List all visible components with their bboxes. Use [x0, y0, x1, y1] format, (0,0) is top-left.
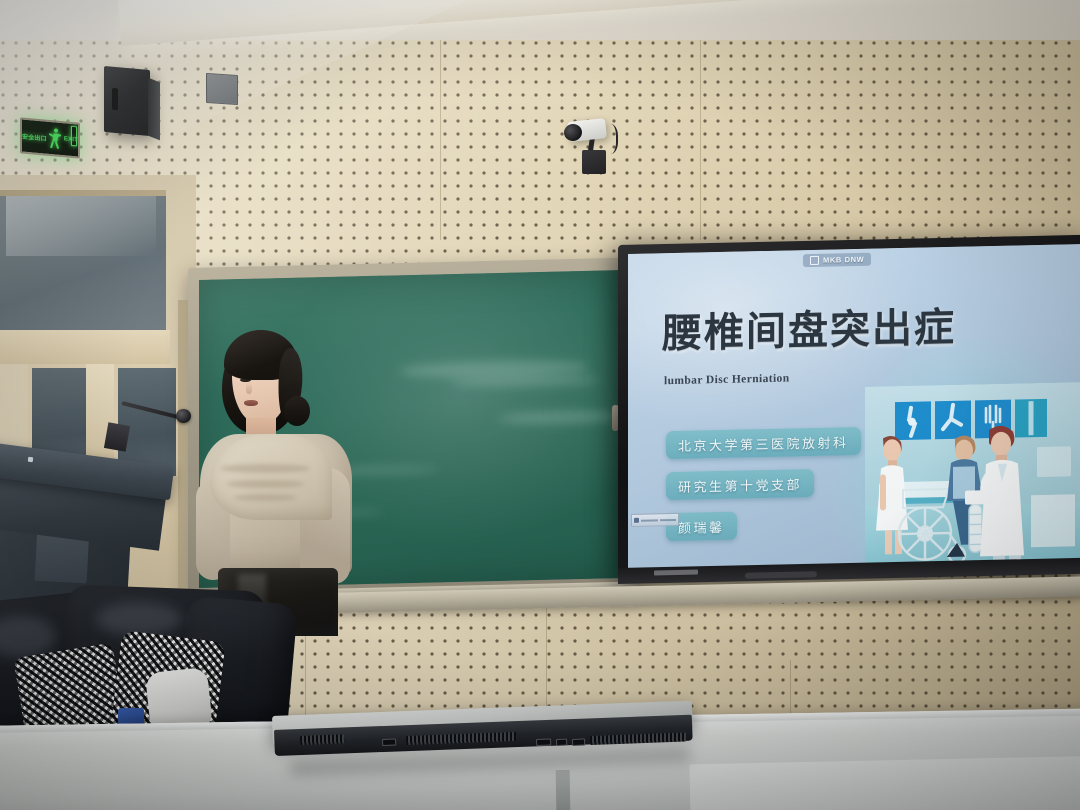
- table-seam: [556, 770, 571, 810]
- exit-sign-label-cn: 安全出口: [22, 131, 47, 142]
- presentation-display[interactable]: MKB DNW 腰椎间盘突出症 lumbar Disc Herniation 北…: [628, 244, 1080, 572]
- transom-glare: [6, 196, 156, 256]
- microphone-head: [176, 409, 191, 423]
- camera-wall-mount: [582, 150, 606, 174]
- door-header-band: [0, 330, 170, 364]
- wall-speaker: [104, 66, 150, 136]
- wall-seam: [700, 40, 701, 240]
- microphone-base: [104, 422, 130, 451]
- presenter-nose: [246, 382, 252, 394]
- laptop-port-usb[interactable]: [572, 739, 585, 746]
- watermark-badge: MKB DNW: [803, 253, 871, 267]
- wall-seam: [440, 40, 441, 240]
- display-brand-logo: [654, 570, 698, 576]
- control-strip-bar: [660, 518, 677, 520]
- control-strip-bar: [641, 519, 658, 521]
- laptop-port-power[interactable]: [382, 738, 396, 746]
- control-strip-icon: [634, 518, 639, 523]
- watermark-label: MKB DNW: [823, 255, 864, 265]
- wall-speaker-grill: [112, 88, 118, 111]
- slide-title: 腰椎间盘突出症: [662, 295, 956, 359]
- presenter: [196, 330, 356, 630]
- screen-control-strip[interactable]: [631, 513, 679, 527]
- running-man-icon: [49, 128, 62, 149]
- air-vent-plate: [206, 73, 238, 105]
- presenter-mouth: [244, 400, 258, 406]
- laptop-port-usbc[interactable]: [556, 739, 567, 746]
- presenter-hair-bun: [284, 396, 310, 426]
- lectern-indicator-light: [28, 457, 34, 463]
- watermark-square-icon: [810, 256, 819, 265]
- classroom-table-right: [689, 756, 1080, 810]
- laptop-port-hdmi[interactable]: [536, 738, 551, 746]
- emergency-exit-sign: 安全出口 EXIT: [20, 117, 80, 158]
- lecture-hall-photo: 安全出口 EXIT MKB DNW 腰椎间: [0, 0, 1080, 810]
- slide-pill-branch: 研究生第十党支部: [666, 469, 814, 500]
- exit-door-icon: [71, 126, 77, 147]
- laptop-vent: [300, 734, 344, 745]
- medical-clinic-illustration: [865, 382, 1080, 567]
- presenter-cowl-neck: [210, 434, 332, 520]
- wall-speaker-side: [148, 78, 160, 141]
- xray-panels: [895, 399, 1047, 440]
- slide-pill-department: 北京大学第三医院放射科: [666, 427, 861, 459]
